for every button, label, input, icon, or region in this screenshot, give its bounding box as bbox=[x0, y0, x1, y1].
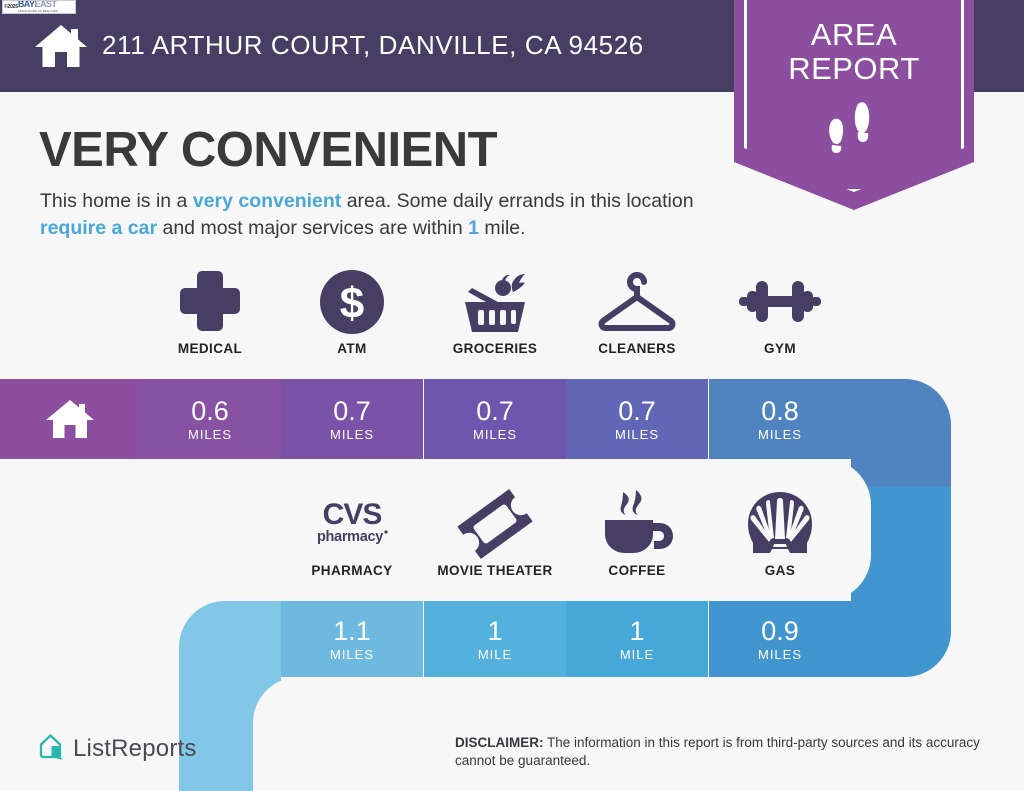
shell-logo-icon bbox=[709, 492, 851, 556]
distance-number: 0.8 bbox=[761, 397, 799, 426]
listreports-brand-name: ListReports bbox=[73, 735, 197, 763]
distance-number: 0.6 bbox=[191, 397, 229, 426]
category-label: COFFEE bbox=[566, 563, 708, 578]
distance-unit: MILES bbox=[330, 427, 374, 442]
coffee-cup-icon bbox=[566, 492, 708, 556]
listreports-house-pin-icon bbox=[38, 733, 64, 765]
distance-unit: MILES bbox=[758, 647, 802, 662]
category-movie-theater: MOVIE THEATER bbox=[424, 492, 566, 578]
ticket-icon bbox=[424, 492, 566, 556]
distance-value-group: 1MILE bbox=[566, 601, 708, 677]
distance-value-group: 1.1MILES bbox=[281, 601, 423, 677]
category-label: PHARMACY bbox=[281, 563, 423, 578]
distance-value-group: 0.9MILES bbox=[709, 601, 851, 677]
distance-number: 0.7 bbox=[476, 397, 514, 426]
medical-cross-icon bbox=[139, 270, 281, 334]
svg-text:CVS: CVS bbox=[323, 498, 382, 531]
distance-unit: MILES bbox=[330, 647, 374, 662]
category-label: ATM bbox=[281, 341, 423, 356]
distance-unit: MILES bbox=[473, 427, 517, 442]
distance-number: 1 bbox=[487, 617, 502, 646]
distance-segment-coffee: 1MILE bbox=[566, 601, 708, 677]
distance-number: 0.7 bbox=[618, 397, 656, 426]
dollar-circle-icon: $ bbox=[281, 270, 423, 334]
distance-segment-groceries: 0.7MILES bbox=[424, 379, 566, 459]
badge-title-line2: REPORT bbox=[734, 52, 974, 86]
distance-unit: MILES bbox=[615, 427, 659, 442]
category-gym: GYM bbox=[709, 270, 851, 356]
distance-segment-cleaners: 0.7MILES bbox=[566, 379, 708, 459]
category-medical: MEDICAL bbox=[139, 270, 281, 356]
footprints-icon bbox=[826, 100, 884, 160]
distance-number: 0.7 bbox=[333, 397, 371, 426]
category-pharmacy: CVS pharmacy PHARMACY bbox=[281, 492, 423, 578]
clothes-hanger-icon bbox=[566, 270, 708, 334]
distance-value-group: 0.7MILES bbox=[424, 379, 566, 459]
category-label: GAS bbox=[709, 563, 851, 578]
home-origin-cell bbox=[0, 379, 139, 459]
category-atm: $ATM bbox=[281, 270, 423, 356]
dumbbell-icon bbox=[709, 270, 851, 334]
home-icon bbox=[45, 398, 95, 440]
distance-segment-atm: 0.7MILES bbox=[281, 379, 423, 459]
category-label: CLEANERS bbox=[566, 341, 708, 356]
distance-segment-medical: 0.6MILES bbox=[139, 379, 281, 459]
distance-number: 1 bbox=[629, 617, 644, 646]
category-label: GYM bbox=[709, 341, 851, 356]
distance-segment-gym: 0.8MILES bbox=[709, 379, 851, 459]
distance-value-group: 0.7MILES bbox=[566, 379, 708, 459]
distance-segment-gas: 0.9MILES bbox=[709, 601, 851, 677]
distance-unit: MILE bbox=[478, 647, 512, 662]
category-label: GROCERIES bbox=[424, 341, 566, 356]
listreports-logo: ListReports bbox=[38, 733, 197, 765]
distance-segment-pharmacy: 1.1MILES bbox=[281, 601, 423, 677]
disclaimer: DISCLAIMER: The information in this repo… bbox=[455, 734, 995, 770]
cvs-pharmacy-logo: CVS pharmacy bbox=[281, 492, 423, 556]
distance-value-group: 1MILE bbox=[424, 601, 566, 677]
distance-segment-movie-theater: 1MILE bbox=[424, 601, 566, 677]
category-cleaners: CLEANERS bbox=[566, 270, 708, 356]
badge-title-line1: AREA bbox=[734, 18, 974, 52]
distance-unit: MILE bbox=[620, 647, 654, 662]
badge-title: AREA REPORT bbox=[734, 18, 974, 86]
category-label: MEDICAL bbox=[139, 341, 281, 356]
distance-number: 1.1 bbox=[333, 617, 371, 646]
distance-value-group: 0.7MILES bbox=[281, 379, 423, 459]
distance-number: 0.9 bbox=[761, 617, 799, 646]
area-report-page: ©2025 BAYEAST ASSOCIATION OF REALTORS 21… bbox=[0, 0, 1024, 791]
svg-text:pharmacy: pharmacy bbox=[317, 529, 383, 545]
category-groceries: GROCERIES bbox=[424, 270, 566, 356]
distance-unit: MILES bbox=[758, 427, 802, 442]
svg-text:$: $ bbox=[340, 279, 364, 328]
distance-unit: MILES bbox=[188, 427, 232, 442]
distance-value-group: 0.6MILES bbox=[139, 379, 281, 459]
category-label: MOVIE THEATER bbox=[424, 563, 566, 578]
category-coffee: COFFEE bbox=[566, 492, 708, 578]
disclaimer-label: DISCLAIMER: bbox=[455, 735, 544, 750]
grocery-basket-icon bbox=[424, 270, 566, 334]
category-gas: GAS bbox=[709, 492, 851, 578]
distance-value-group: 0.8MILES bbox=[709, 379, 851, 459]
